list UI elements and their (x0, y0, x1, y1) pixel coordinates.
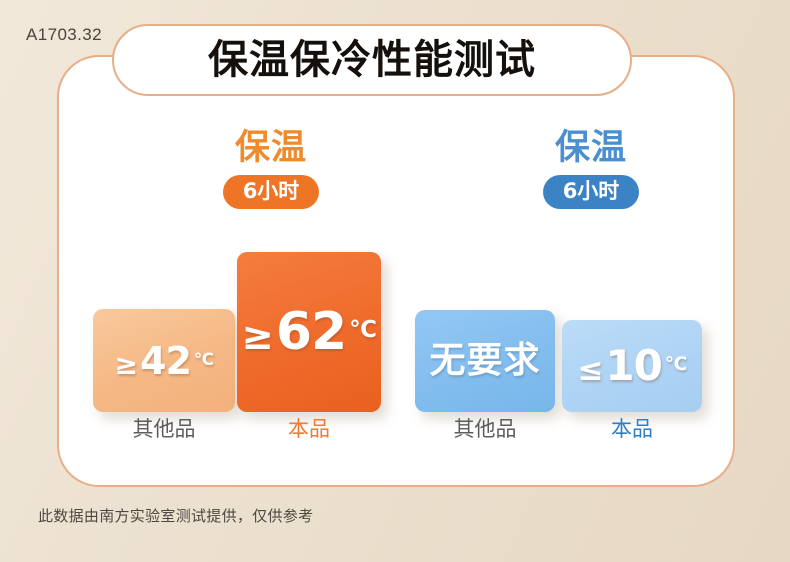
page-title: 保温保冷性能测试 (208, 40, 536, 80)
bar-value-cold-ours: ≤10°C (577, 345, 686, 387)
caption-cold-other: 其他品 (415, 416, 555, 443)
bar-captions: 其他品 本品 其他品 本品 (57, 416, 735, 450)
value-unit: °C (349, 319, 376, 342)
bar-body: ≥62°C (237, 252, 381, 412)
bar-body: 无要求 (415, 310, 555, 412)
bar-cold-ours: ≤10°C (562, 320, 702, 412)
bar-warm-other: ≥42°C (93, 309, 235, 412)
bar-value-warm-ours: ≥62°C (242, 306, 377, 358)
comparator-symbol: ≥ (242, 318, 274, 356)
bar-body: ≥42°C (93, 309, 235, 412)
panel-title-warm: 保温 (235, 130, 307, 167)
bar-body: ≤10°C (562, 320, 702, 412)
value-number: 10 (605, 345, 661, 387)
caption-cold-ours: 本品 (562, 416, 702, 443)
panel-title-cold: 保温 (555, 130, 627, 167)
value-number: 42 (140, 342, 191, 380)
bar-warm-ours: ≥62°C (237, 252, 381, 412)
panel-heading-cold: 保温 6小时 (496, 130, 686, 209)
bar-value-cold-other: 无要求 (429, 343, 540, 379)
panel-badge-cold: 6小时 (543, 175, 640, 209)
comparator-symbol: ≥ (114, 351, 138, 379)
panel-heading-warm: 保温 6小时 (176, 130, 366, 209)
poster-canvas: A1703.32 保温保冷性能测试 保温 6小时 保温 6小时 ≥42°C ≥6… (0, 0, 790, 562)
bar-value-warm-other: ≥42°C (114, 342, 213, 380)
title-pill: 保温保冷性能测试 (112, 24, 632, 96)
value-unit: °C (194, 351, 214, 368)
value-unit: °C (665, 356, 687, 374)
value-number: 62 (276, 306, 346, 358)
caption-warm-ours: 本品 (237, 416, 381, 443)
sku-code: A1703.32 (26, 25, 102, 45)
footnote: 此数据由南方实验室测试提供，仅供参考 (38, 505, 313, 526)
caption-warm-other: 其他品 (93, 416, 235, 443)
bar-cold-other: 无要求 (415, 310, 555, 412)
bar-chart: ≥42°C ≥62°C 无要求 ≤10°C (57, 240, 735, 412)
comparator-symbol: ≤ (577, 355, 603, 386)
panel-badge-warm: 6小时 (223, 175, 320, 209)
